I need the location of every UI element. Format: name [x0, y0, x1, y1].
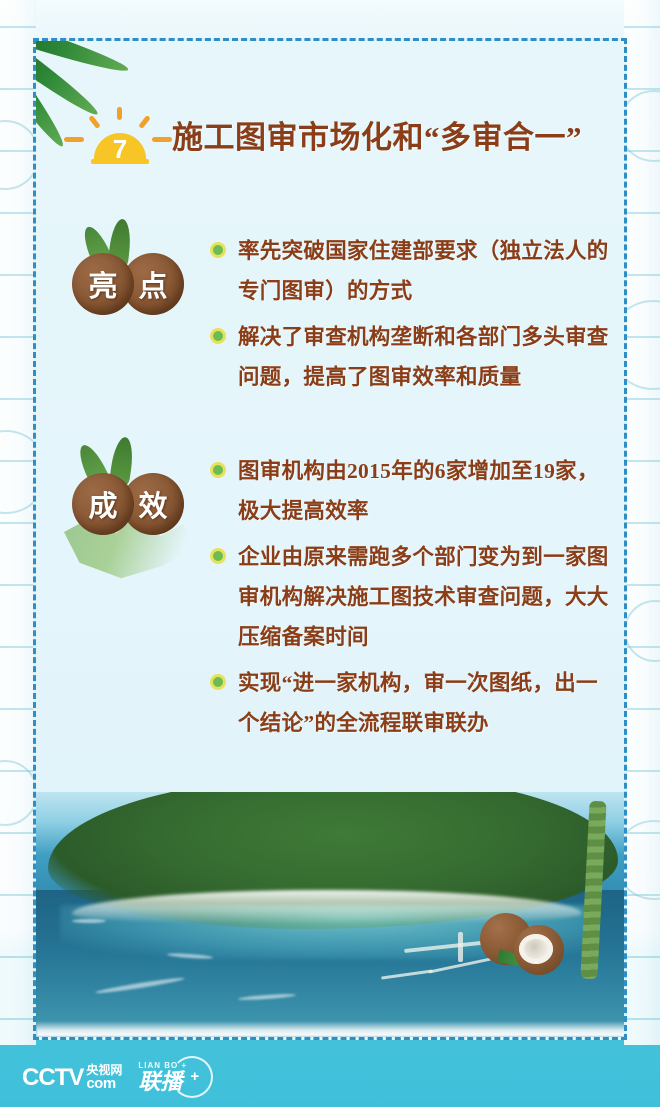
lianbo-ring-icon [171, 1056, 213, 1098]
list-item: 解决了审查机构垄断和各部门多头审查问题，提高了图审效率和质量 [208, 317, 618, 397]
cctv-wordmark: CCTV [22, 1066, 83, 1090]
cctv-logo: CCTV 央视网 com [22, 1064, 122, 1092]
poster-root: 7 施工图审市场化和“多审合一” 亮 点 率先突破国家住建部要求（独立法人的专门… [0, 0, 660, 1107]
badge-char-1: 亮 [72, 253, 134, 315]
bullet-dot-icon [210, 462, 226, 478]
bullet-list-chengxiao: 图审机构由2015年的6家增加至19家，极大提高效率 企业由原来需跑多个部门变为… [208, 451, 618, 749]
list-item: 企业由原来需跑多个部门变为到一家图审机构解决施工图技术审查问题，大大压缩备案时间 [208, 537, 618, 657]
badge-liangdian: 亮 点 [64, 231, 184, 325]
half-sun-icon: 7 [64, 103, 172, 165]
bullet-text: 企业由原来需跑多个部门变为到一家图审机构解决施工图技术审查问题，大大压缩备案时间 [238, 545, 609, 649]
bullet-dot-icon [210, 674, 226, 690]
bullet-text: 解决了审查机构垄断和各部门多头审查问题，提高了图审效率和质量 [238, 325, 609, 389]
bullet-text: 率先突破国家住建部要求（独立法人的专门图审）的方式 [238, 239, 609, 303]
footer-logos: CCTV 央视网 com LIAN BO + 联播 + [22, 1062, 197, 1093]
list-item: 率先突破国家住建部要求（独立法人的专门图审）的方式 [208, 231, 618, 311]
wave-band-left-decor [0, 0, 36, 1045]
bullet-dot-icon [210, 548, 226, 564]
section-number: 7 [94, 136, 146, 162]
bullet-dot-icon [210, 242, 226, 258]
bullet-list-liangdian: 率先突破国家住建部要求（独立法人的专门图审）的方式 解决了审查机构垄断和各部门多… [208, 231, 618, 403]
badge-chengxiao: 成 效 [64, 451, 184, 545]
wave-band-right-decor [624, 0, 660, 1045]
coconut-icon [476, 909, 572, 979]
title-row: 7 施工图审市场化和“多审合一” [36, 103, 624, 165]
badge-char-1: 成 [72, 473, 134, 535]
bullet-text: 图审机构由2015年的6家增加至19家，极大提高效率 [238, 459, 599, 523]
bullet-dot-icon [210, 328, 226, 344]
list-item: 图审机构由2015年的6家增加至19家，极大提高效率 [208, 451, 618, 531]
page-title: 施工图审市场化和“多审合一” [172, 112, 582, 157]
poster-frame: 7 施工图审市场化和“多审合一” 亮 点 率先突破国家住建部要求（独立法人的专门… [33, 38, 627, 1040]
lianbo-logo: LIAN BO + 联播 + [138, 1062, 197, 1093]
bullet-text: 实现“进一家机构，审一次图纸，出一个结论”的全流程联审联办 [238, 671, 598, 735]
list-item: 实现“进一家机构，审一次图纸，出一个结论”的全流程联审联办 [208, 663, 618, 743]
cctv-com-label: com [86, 1076, 122, 1091]
